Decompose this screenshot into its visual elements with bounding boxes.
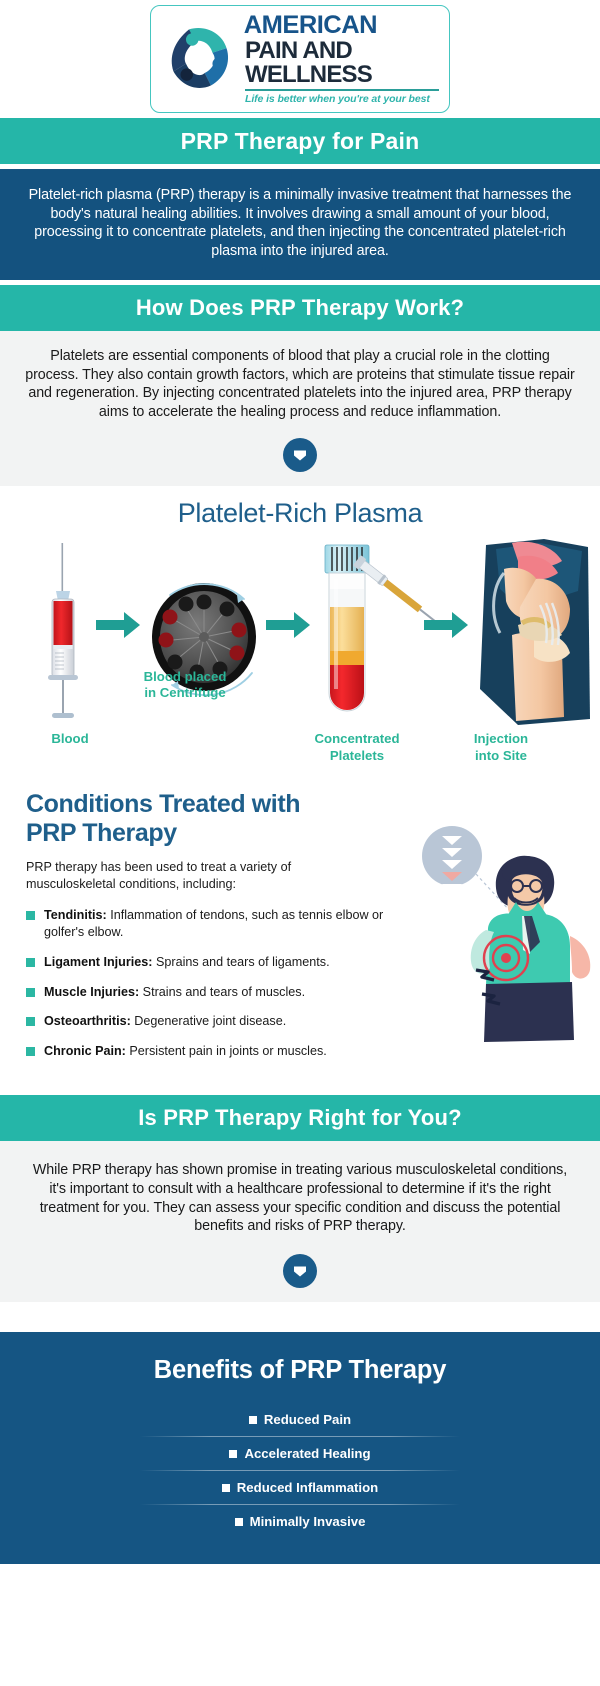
condition-desc: Persistent pain in joints or muscles.: [126, 1044, 327, 1058]
condition-term: Tendinitis:: [44, 908, 107, 922]
diagram-title: Platelet-Rich Plasma: [0, 498, 600, 529]
chevron-badge-container: [0, 436, 600, 486]
conditions-title: Conditions Treated with PRP Therapy: [26, 790, 406, 847]
list-item-text: Ligament Injuries: Sprains and tears of …: [44, 954, 330, 971]
bullet-square-icon: [235, 1518, 243, 1526]
condition-desc: Sprains and tears of ligaments.: [152, 955, 329, 969]
logo-bar: AMERICAN PAIN AND WELLNESS Life is bette…: [0, 0, 600, 118]
condition-desc: Degenerative joint disease.: [131, 1014, 286, 1028]
benefits-section: Benefits of PRP Therapy Reduced Pain Acc…: [0, 1332, 600, 1564]
intro-paragraph: Platelet-rich plasma (PRP) therapy is a …: [0, 169, 600, 280]
bullet-square-icon: [26, 911, 35, 920]
label-line1: Injection: [474, 731, 528, 746]
chevron-down-badge-icon: [283, 1254, 317, 1288]
chevron-down-badge-icon: [283, 438, 317, 472]
chevron-badge-container: [0, 1252, 600, 1302]
benefit-item-minimally-invasive: Minimally Invasive: [0, 1505, 600, 1538]
bullet-square-icon: [26, 1017, 35, 1026]
list-item-text: Muscle Injuries: Strains and tears of mu…: [44, 984, 305, 1001]
condition-term: Muscle Injuries:: [44, 985, 139, 999]
condition-term: Ligament Injuries:: [44, 955, 152, 969]
bullet-square-icon: [249, 1416, 257, 1424]
condition-desc: Strains and tears of muscles.: [139, 985, 305, 999]
conditions-lead-text: PRP therapy has been used to treat a var…: [26, 859, 366, 892]
list-item-text: Tendinitis: Inflammation of tendons, suc…: [44, 907, 406, 941]
benefit-label: Reduced Inflammation: [237, 1480, 378, 1495]
conditions-title-line1: Conditions Treated with: [26, 790, 300, 818]
label-line1: Concentrated: [315, 731, 400, 746]
benefits-title: Benefits of PRP Therapy: [0, 1356, 600, 1385]
benefit-item-accelerated-healing: Accelerated Healing: [0, 1437, 600, 1470]
list-item: Ligament Injuries: Sprains and tears of …: [26, 954, 406, 971]
list-item-text: Chronic Pain: Persistent pain in joints …: [44, 1043, 327, 1060]
diagram-stage: Blood placed in Centrifuge: [0, 537, 600, 727]
conditions-title-line2: PRP Therapy: [26, 819, 177, 847]
bullet-square-icon: [229, 1450, 237, 1458]
brand-logo-card: AMERICAN PAIN AND WELLNESS Life is bette…: [150, 5, 450, 113]
is-prp-right-for-you-body: While PRP therapy has shown promise in t…: [0, 1141, 600, 1252]
how-does-prp-work-body: Platelets are essential components of bl…: [0, 331, 600, 435]
bullet-square-icon: [26, 1047, 35, 1056]
logo-tagline: Life is better when you're at your best: [245, 94, 430, 105]
benefit-label: Minimally Invasive: [250, 1514, 366, 1529]
benefit-label: Accelerated Healing: [244, 1446, 370, 1461]
condition-term: Chronic Pain:: [44, 1044, 126, 1058]
man-with-shoulder-pain-illustration: [390, 824, 600, 1074]
centrifuge-caption: Blood placed in Centrifuge: [105, 669, 265, 702]
conditions-treated-section: Conditions Treated with PRP Therapy PRP …: [0, 774, 600, 1095]
benefit-item-reduced-inflammation: Reduced Inflammation: [0, 1471, 600, 1504]
section-heading-is-prp-right-for-you: Is PRP Therapy Right for You?: [0, 1095, 600, 1141]
logo-line-pain-and-wellness: PAIN AND WELLNESS: [245, 39, 439, 91]
condition-term: Osteoarthritis:: [44, 1014, 131, 1028]
diagram-step-labels: Blood Concentrated Platelets Injection i…: [0, 727, 600, 767]
list-item: Muscle Injuries: Strains and tears of mu…: [26, 984, 406, 1001]
diagram-label-concentrated-platelets: Concentrated Platelets: [282, 731, 432, 765]
list-item: Chronic Pain: Persistent pain in joints …: [26, 1043, 406, 1060]
list-item-text: Osteoarthritis: Degenerative joint disea…: [44, 1013, 286, 1030]
page-title: PRP Therapy for Pain: [0, 118, 600, 164]
benefit-item-reduced-pain: Reduced Pain: [0, 1403, 600, 1436]
three-people-circle-logo-icon: [161, 20, 239, 98]
conditions-list: Tendinitis: Inflammation of tendons, suc…: [26, 907, 406, 1060]
bullet-square-icon: [222, 1484, 230, 1492]
section-heading-how-does-prp-work: How Does PRP Therapy Work?: [0, 285, 600, 331]
platelet-rich-plasma-diagram: Platelet-Rich Plasma: [0, 486, 600, 775]
logo-line-american: AMERICAN: [244, 13, 377, 38]
diagram-label-centrifuge-spacer: [122, 731, 272, 765]
label-line2: into Site: [475, 748, 527, 763]
centrifuge-caption-line1: Blood placed: [144, 669, 227, 684]
diagram-label-injection-into-site: Injection into Site: [426, 731, 576, 765]
label-line2: Platelets: [330, 748, 384, 763]
spacer: [0, 1302, 600, 1332]
benefit-label: Reduced Pain: [264, 1412, 351, 1427]
list-item: Osteoarthritis: Degenerative joint disea…: [26, 1013, 406, 1030]
bullet-square-icon: [26, 988, 35, 997]
list-item: Tendinitis: Inflammation of tendons, suc…: [26, 907, 406, 941]
centrifuge-caption-line2: in Centrifuge: [144, 685, 225, 700]
bullet-square-icon: [26, 958, 35, 967]
diagram-label-blood: Blood: [10, 731, 130, 765]
